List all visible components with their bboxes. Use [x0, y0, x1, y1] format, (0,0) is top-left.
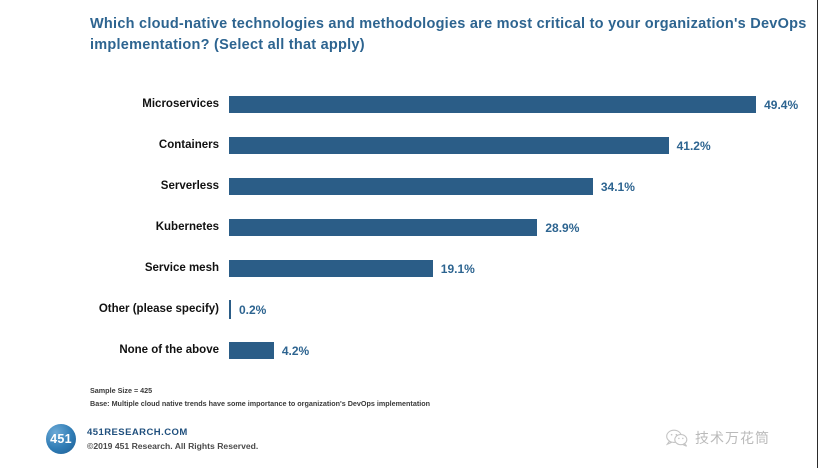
bar — [229, 219, 537, 236]
bar-track: 19.1% — [229, 248, 800, 289]
wechat-icon — [666, 429, 688, 447]
bar-row: Service mesh19.1% — [90, 248, 800, 289]
brand-logo-block[interactable]: 451 451RESEARCH.COM ©2019 451 Research. … — [46, 424, 258, 454]
bar-row: Containers41.2% — [90, 125, 800, 166]
bar-chart-plot-area: Microservices49.4%Containers41.2%Serverl… — [90, 84, 800, 369]
bar-category-label: Service mesh — [90, 263, 229, 275]
bar-row: Other (please specify)0.2% — [90, 289, 800, 330]
bar-category-label: Kubernetes — [90, 222, 229, 234]
chart-title: Which cloud-native technologies and meth… — [90, 14, 810, 56]
bar-value-label: 4.2% — [282, 345, 309, 357]
bar-value-label: 49.4% — [764, 99, 798, 111]
bar-value-label: 34.1% — [601, 181, 635, 193]
bar-category-label: Containers — [90, 140, 229, 152]
copyright-notice: ©2019 451 Research. All Rights Reserved. — [87, 440, 258, 452]
watermark-text: 技术万花筒 — [695, 428, 770, 448]
slide-canvas: Which cloud-native technologies and meth… — [0, 0, 832, 468]
bar-category-label: None of the above — [90, 345, 229, 357]
bar-track: 41.2% — [229, 125, 800, 166]
bar-row: Kubernetes28.9% — [90, 207, 800, 248]
bar-row: Serverless34.1% — [90, 166, 800, 207]
watermark: 技术万花筒 — [666, 428, 770, 448]
footnote-base: Base: Multiple cloud native trends have … — [90, 398, 710, 411]
chart-footnotes: Sample Size = 425 Base: Multiple cloud n… — [90, 385, 710, 410]
bar-value-label: 28.9% — [545, 222, 579, 234]
bar-row: None of the above4.2% — [90, 330, 800, 371]
bar — [229, 260, 433, 277]
bar-track: 4.2% — [229, 330, 800, 371]
bar — [229, 96, 756, 113]
bar — [229, 300, 231, 319]
bar-value-label: 19.1% — [441, 263, 475, 275]
bar-track: 34.1% — [229, 166, 800, 207]
bar — [229, 178, 593, 195]
bar-value-label: 0.2% — [239, 304, 266, 316]
bar-value-label: 41.2% — [677, 140, 711, 152]
bar-track: 28.9% — [229, 207, 800, 248]
bar-category-label: Microservices — [90, 99, 229, 111]
bar-row: Microservices49.4% — [90, 84, 800, 125]
bar-track: 49.4% — [229, 84, 800, 125]
bar-category-label: Other (please specify) — [90, 304, 229, 316]
451-badge-icon: 451 — [46, 424, 76, 454]
brand-logo-text: 451RESEARCH.COM ©2019 451 Research. All … — [87, 426, 258, 452]
brand-website: 451RESEARCH.COM — [87, 426, 258, 440]
bar-category-label: Serverless — [90, 181, 229, 193]
bar — [229, 342, 274, 359]
bar — [229, 137, 669, 154]
slide-frame-right-edge — [817, 0, 818, 468]
footnote-sample-size: Sample Size = 425 — [90, 385, 710, 398]
bar-track: 0.2% — [229, 289, 800, 330]
